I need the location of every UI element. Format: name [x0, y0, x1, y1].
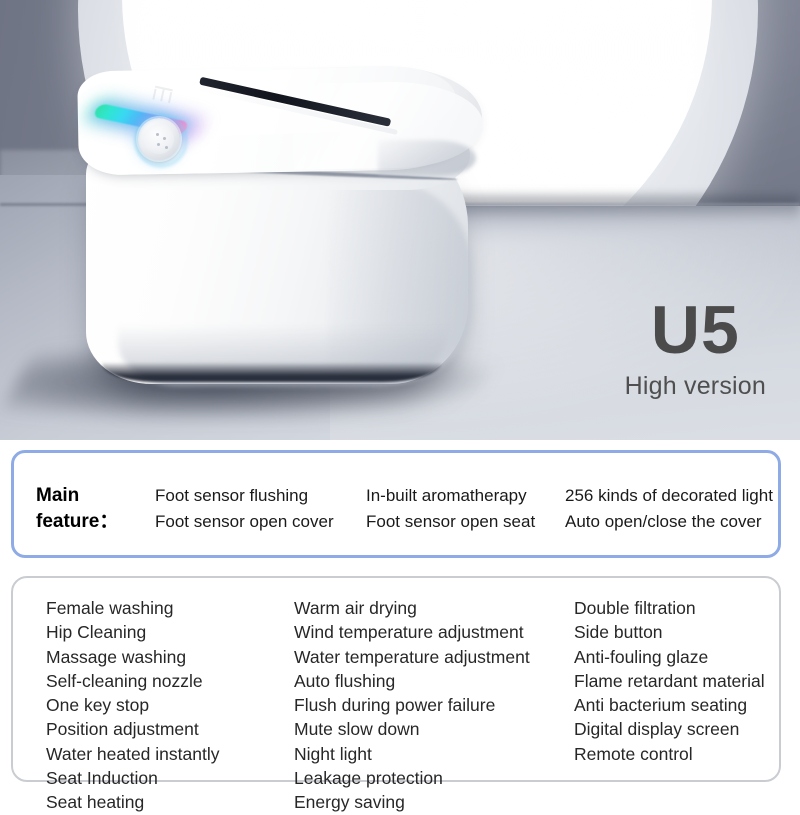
- feature-list-item: Seat Induction: [46, 766, 219, 790]
- model-title-block: U5 High version: [625, 296, 766, 401]
- feature-list-item: Seat heating: [46, 790, 219, 814]
- feature-list-item: Energy saving: [294, 790, 530, 814]
- feature-list-item: Night light: [294, 742, 530, 766]
- feature-list-column-2: Warm air dryingWind temperature adjustme…: [294, 596, 530, 815]
- feature-list-item: Self-cleaning nozzle: [46, 669, 219, 693]
- main-feature-item: Foot sensor open seat: [366, 509, 535, 535]
- feature-list-item: Female washing: [46, 596, 219, 620]
- main-feature-column-1: Foot sensor flushing Foot sensor open co…: [155, 483, 334, 535]
- feature-list-item: Flame retardant material: [574, 669, 765, 693]
- toilet-floor-contact-line: [102, 362, 442, 382]
- feature-list-item: Digital display screen: [574, 717, 765, 741]
- feature-list-item: Leakage protection: [294, 766, 530, 790]
- toilet-bowl-edge-shading: [378, 140, 476, 176]
- feature-list-item: Warm air drying: [294, 596, 530, 620]
- feature-list-item: Remote control: [574, 742, 765, 766]
- main-feature-item: 256 kinds of decorated light: [565, 483, 773, 509]
- model-name: U5: [625, 296, 766, 364]
- feature-list-item: Flush during power failure: [294, 693, 530, 717]
- feature-list-item: Side button: [574, 620, 765, 644]
- feature-list-item: Auto flushing: [294, 669, 530, 693]
- main-feature-box: Main feature： Foot sensor flushing Foot …: [11, 450, 781, 558]
- main-feature-label-line2: feature：: [36, 509, 146, 535]
- feature-list-item: Water temperature adjustment: [294, 645, 530, 669]
- main-feature-label-line1: Main: [36, 483, 146, 509]
- feature-list-item: Anti-fouling glaze: [574, 645, 765, 669]
- feature-list-item: Massage washing: [46, 645, 219, 669]
- main-feature-content: Main feature： Foot sensor flushing Foot …: [14, 483, 778, 539]
- feature-list-column-3: Double filtrationSide buttonAnti-fouling…: [574, 596, 765, 766]
- feature-list-item: Position adjustment: [46, 717, 219, 741]
- main-feature-column-2: In-built aromatherapy Foot sensor open s…: [366, 483, 535, 535]
- main-feature-label: Main feature：: [36, 483, 146, 535]
- main-feature-item: In-built aromatherapy: [366, 483, 535, 509]
- product-scene: U5 High version: [0, 0, 800, 440]
- feature-list-item: One key stop: [46, 693, 219, 717]
- feature-list-item: Wind temperature adjustment: [294, 620, 530, 644]
- model-version-label: High version: [625, 372, 766, 401]
- feature-list-item: Hip Cleaning: [46, 620, 219, 644]
- knob-inner-face: [144, 124, 174, 154]
- main-feature-column-3: 256 kinds of decorated light Auto open/c…: [565, 483, 773, 535]
- feature-list-item: Anti bacterium seating: [574, 693, 765, 717]
- feature-list-item: Double filtration: [574, 596, 765, 620]
- feature-list-item: Mute slow down: [294, 717, 530, 741]
- side-button-knob[interactable]: [138, 118, 180, 160]
- main-feature-item: Foot sensor flushing: [155, 483, 334, 509]
- main-feature-item: Foot sensor open cover: [155, 509, 334, 535]
- feature-list-box: Female washingHip CleaningMassage washin…: [11, 576, 781, 782]
- feature-list-item: Water heated instantly: [46, 742, 219, 766]
- feature-list-column-1: Female washingHip CleaningMassage washin…: [46, 596, 219, 815]
- smart-toilet-product: [78, 62, 498, 392]
- main-feature-item: Auto open/close the cover: [565, 509, 773, 535]
